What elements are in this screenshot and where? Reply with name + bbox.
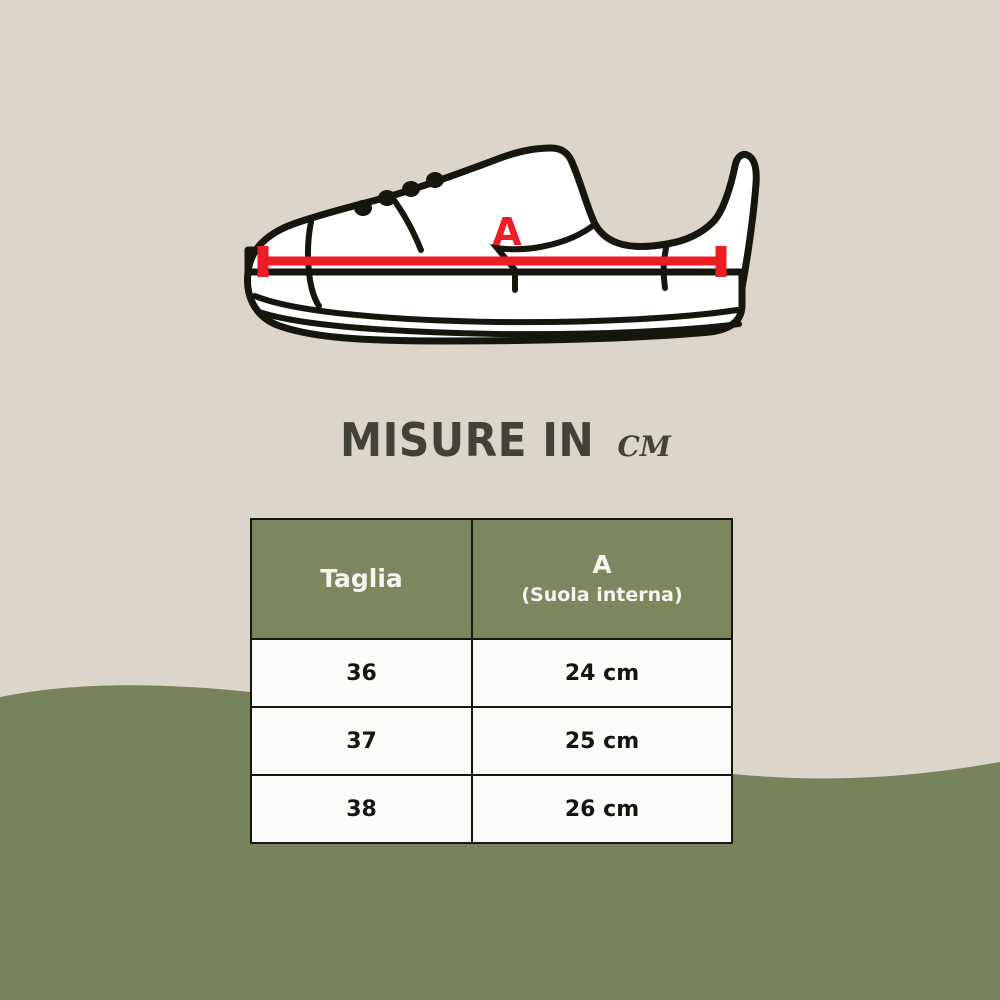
table-header-size: Taglia	[251, 519, 472, 639]
table-header-measure-sublabel: (Suola interna)	[473, 583, 731, 608]
page-title-unit: cm	[618, 419, 671, 466]
table-header-measure-label: A	[473, 551, 731, 580]
cell-measure: 26 cm	[472, 775, 732, 843]
cell-size: 37	[251, 707, 472, 775]
page-title: MISURE INcm	[0, 413, 1000, 467]
sneaker-illustration: A	[215, 100, 775, 350]
page-title-main: MISURE IN	[340, 413, 594, 467]
measure-label-a: A	[492, 210, 522, 254]
cell-size: 36	[251, 639, 472, 707]
cell-size: 38	[251, 775, 472, 843]
cell-measure: 24 cm	[472, 639, 732, 707]
table-row: 37 25 cm	[251, 707, 732, 775]
table-row: 38 26 cm	[251, 775, 732, 843]
table-header-size-label: Taglia	[252, 565, 471, 594]
table-header-row: Taglia A (Suola interna)	[251, 519, 732, 639]
table-row: 36 24 cm	[251, 639, 732, 707]
heel-counter-seam	[664, 244, 667, 288]
size-chart-table: Taglia A (Suola interna) 36 24 cm 37 25 …	[250, 518, 733, 844]
table-header-measure: A (Suola interna)	[472, 519, 732, 639]
cell-measure: 25 cm	[472, 707, 732, 775]
